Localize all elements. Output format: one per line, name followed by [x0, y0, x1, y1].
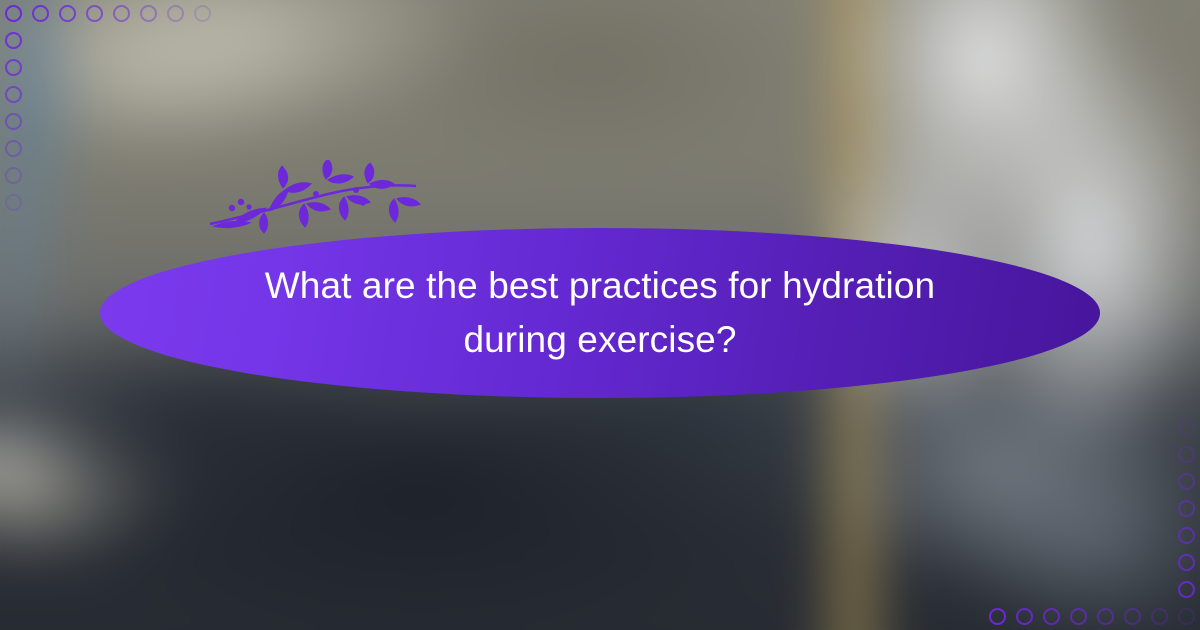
- question-text: What are the best practices for hydratio…: [220, 259, 980, 367]
- floral-branch-ornament-icon: [208, 160, 423, 238]
- question-banner: What are the best practices for hydratio…: [100, 228, 1100, 398]
- promo-card: What are the best practices for hydratio…: [0, 0, 1200, 630]
